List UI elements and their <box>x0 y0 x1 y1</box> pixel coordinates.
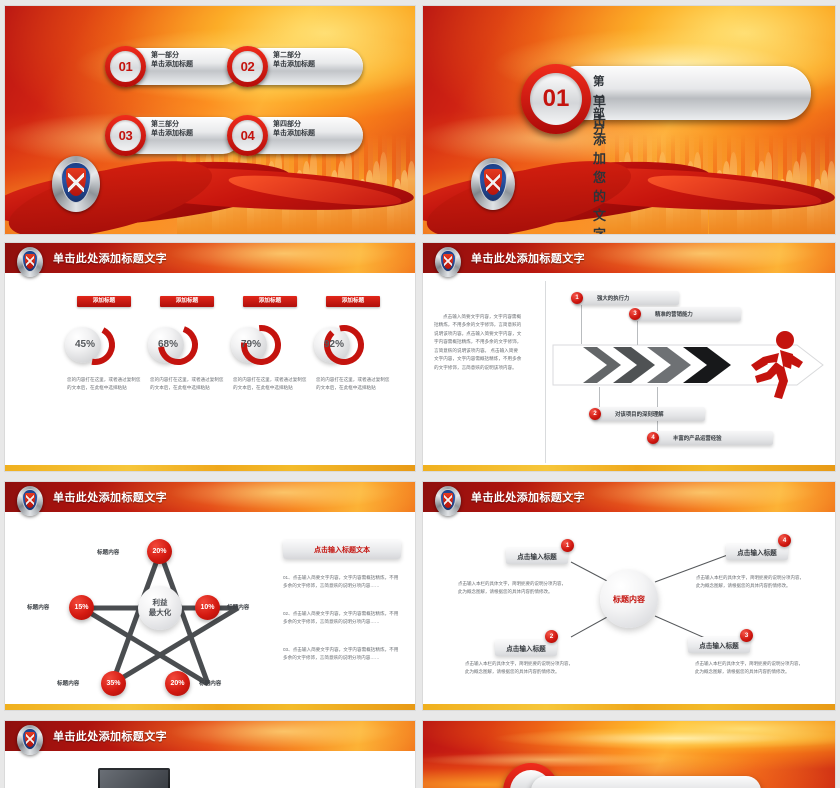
donut-caption-4: 您的内容打在这里，或者通过复制您的文本后，在此框中选择粘贴 <box>316 376 392 392</box>
agenda-text-02: 第二部分 单击添加标题 <box>273 52 315 70</box>
radial-body-4: 点击输入本栏的具体文字，简明扼要的说明分项内容，此为概念图解，请根据您的具体内容… <box>696 574 804 590</box>
radial-number-2: 2 <box>545 630 558 643</box>
panel-paragraph-3: 03、点击输入简要文字内容，文字内容需概括精炼，不用多余的文字修饰，言简意赅的说… <box>283 646 401 663</box>
slide-chevron-process[interactable]: 单击此处添加标题文字 点击输入简要文字内容，文字内容需概括精炼，不用多余的文字修… <box>423 243 835 471</box>
donut-tag-2[interactable]: 添加标题 <box>160 296 214 307</box>
chevron-number-4: 4 <box>647 432 659 444</box>
radial-center-node: 标题内容 <box>600 570 658 628</box>
slide-bottom-right-partial[interactable] <box>423 721 835 788</box>
chevron-label-4[interactable]: 丰富的产品运营经验 <box>651 431 773 445</box>
pentagon-node-2[interactable]: 10% <box>195 595 220 620</box>
pentagon-label-1: 标题内容 <box>97 548 119 556</box>
radial-number-1: 1 <box>561 539 574 552</box>
pentagon-node-5[interactable]: 15% <box>69 595 94 620</box>
slide-footer-bar <box>423 704 835 710</box>
chevron-number-1: 1 <box>571 292 583 304</box>
slide-title: 单击此处添加标题文字 <box>53 250 167 266</box>
slide-bottom-left-partial[interactable]: 单击此处添加标题文字 <box>5 721 415 788</box>
number-badge-02: 02 <box>227 46 268 87</box>
slide-header-bar: 单击此处添加标题文字 <box>5 482 415 512</box>
donut-caption-1: 您的内容打在这里，或者通过复制您的文本后，在此框中选择粘贴 <box>67 376 143 392</box>
donut-tag-3[interactable]: 添加标题 <box>243 296 297 307</box>
slide-cover[interactable]: 01 第一部分 单击添加标题 02 第二部分 单击添加标题 03 第三部分 <box>5 6 415 234</box>
radial-number-3: 3 <box>740 629 753 642</box>
pentagon-center: 利益 最大化 <box>138 586 182 630</box>
radial-body-1: 点击输入本栏的具体文字，简明扼要的说明分项内容，此为概念图解，请根据您的具体内容… <box>458 580 566 596</box>
fire-police-emblem-icon <box>17 486 43 516</box>
leader-line-3 <box>637 319 638 345</box>
divider-line <box>545 281 546 463</box>
pentagon-label-5: 标题内容 <box>27 603 49 611</box>
fire-police-emblem-icon <box>471 158 515 210</box>
agenda-text-04: 第四部分 单击添加标题 <box>273 121 315 139</box>
section-title: 单击添加您的文字标题 <box>593 91 606 234</box>
agenda-text-01: 第一部分 单击添加标题 <box>151 52 193 70</box>
laptop-mockup <box>98 768 170 788</box>
slide-footer-bar <box>423 465 835 471</box>
slide-section-divider[interactable]: 01 第一部分 单击添加您的文字标题 <box>423 6 835 234</box>
chevron-label-1-text: 强大的执行力 <box>597 294 629 302</box>
donut-value-3: 79% <box>233 339 269 350</box>
donut-caption-2: 您的内容打在这里，或者通过复制您的文本后，在此框中选择粘贴 <box>150 376 226 392</box>
radial-heading-1[interactable]: 点击输入标题 <box>506 548 568 564</box>
fire-police-emblem-icon <box>17 247 43 277</box>
slide-thumbnail-grid: 01 第一部分 单击添加标题 02 第二部分 单击添加标题 03 第三部分 <box>0 0 840 788</box>
chevron-body-text: 点击输入简要文字内容，文字内容需概括精炼，不用多余的文字修饰，言简意赅的说明该项… <box>434 313 522 372</box>
donut-chart-2: 68% <box>148 323 196 371</box>
number-badge-01: 01 <box>105 46 146 87</box>
donut-chart-1: 45% <box>65 323 113 371</box>
chevron-label-3-text: 精准的营销能力 <box>655 310 693 318</box>
agenda-number: 01 <box>119 59 133 74</box>
donut-caption-3: 您的内容打在这里，或者通过复制您的文本后，在此框中选择粘贴 <box>233 376 309 392</box>
chevron-label-4-text: 丰富的产品运营经验 <box>673 434 722 442</box>
agenda-number: 04 <box>241 128 255 143</box>
panel-paragraph-2: 02、点击输入简要文字内容，文字内容需概括精炼，不用多余的文字修饰，言简意赅的说… <box>283 610 401 627</box>
slide-footer-bar <box>5 465 415 471</box>
fire-police-emblem-icon <box>435 247 461 277</box>
fire-police-emblem-icon <box>435 486 461 516</box>
leader-line-1 <box>581 304 582 344</box>
pentagon-label-2: 标题内容 <box>227 603 249 611</box>
section-number-badge: 01 <box>521 64 591 134</box>
number-badge-04: 04 <box>227 115 268 156</box>
slide-header-bar: 单击此处添加标题文字 <box>423 243 835 273</box>
radial-body-2: 点击输入本栏的具体文字，简明扼要的说明分项内容，此为概念图解，请根据您的具体内容… <box>465 660 573 676</box>
agenda-number: 02 <box>241 59 255 74</box>
radial-number-4: 4 <box>778 534 791 547</box>
slide-title: 单击此处添加标题文字 <box>53 489 167 505</box>
agenda-number: 03 <box>119 128 133 143</box>
chevron-number-3: 3 <box>629 308 641 320</box>
chevron-label-1[interactable]: 强大的执行力 <box>575 291 679 305</box>
agenda-text-03: 第三部分 单击添加标题 <box>151 121 193 139</box>
pentagon-label-4: 标题内容 <box>57 679 79 687</box>
chevron-label-3[interactable]: 精准的营销能力 <box>633 307 741 321</box>
donut-value-1: 45% <box>67 339 103 350</box>
center-line-1: 利益 <box>153 598 168 608</box>
slide-footer-bar <box>5 704 415 710</box>
number-badge-03: 03 <box>105 115 146 156</box>
pentagon-node-3[interactable]: 20% <box>165 671 190 696</box>
running-man-icon <box>741 329 803 403</box>
chevron-label-2-text: 对该项目的深刻理解 <box>615 410 664 418</box>
slide-title: 单击此处添加标题文字 <box>53 728 167 744</box>
center-line-2: 最大化 <box>149 608 172 618</box>
panel-title-button[interactable]: 点击输入标题文本 <box>283 540 401 559</box>
radial-heading-4[interactable]: 点击输入标题 <box>726 544 788 560</box>
slide-header-bar: 单击此处添加标题文字 <box>5 243 415 273</box>
panel-paragraph-1: 01、点击输入简要文字内容，文字内容需概括精炼，不用多余的文字修饰，言简意赅的说… <box>283 574 401 591</box>
donut-tag-1[interactable]: 添加标题 <box>77 296 131 307</box>
section-number: 01 <box>543 85 570 113</box>
slide-radial-four[interactable]: 单击此处添加标题文字 标题内容 点击输入标题 1 点击输入本栏的具体文字，简明扼… <box>423 482 835 710</box>
radial-body-3: 点击输入本栏的具体文字，简明扼要的说明分项内容，此为概念图解，请根据您的具体内容… <box>695 660 803 676</box>
slide-header-bar: 单击此处添加标题文字 <box>5 721 415 751</box>
pentagon-label-3: 标题内容 <box>199 679 221 687</box>
donut-chart-4: 92% <box>314 323 362 371</box>
slide-title: 单击此处添加标题文字 <box>471 489 585 505</box>
section-plate <box>531 776 761 788</box>
donut-chart-3: 79% <box>231 323 279 371</box>
donut-value-2: 68% <box>150 339 186 350</box>
donut-value-4: 92% <box>316 339 352 350</box>
pentagon-node-4[interactable]: 35% <box>101 671 126 696</box>
pentagon-node-1[interactable]: 20% <box>147 539 172 564</box>
slide-donut-stats[interactable]: 单击此处添加标题文字 添加标题 添加标题 添加标题 添加标题 45% 您的内容打… <box>5 243 415 471</box>
fire-police-emblem-icon <box>52 156 100 212</box>
radial-heading-2[interactable]: 点击输入标题 <box>495 640 557 656</box>
slide-pentagon-stats[interactable]: 单击此处添加标题文字 利益 最大化 20% 标题内容 10% 标题内容 20% … <box>5 482 415 710</box>
fire-police-emblem-icon <box>17 725 43 755</box>
slide-title: 单击此处添加标题文字 <box>471 250 585 266</box>
chevron-label-2[interactable]: 对该项目的深刻理解 <box>593 407 705 421</box>
donut-tag-4[interactable]: 添加标题 <box>326 296 380 307</box>
chevron-number-2: 2 <box>589 408 601 420</box>
